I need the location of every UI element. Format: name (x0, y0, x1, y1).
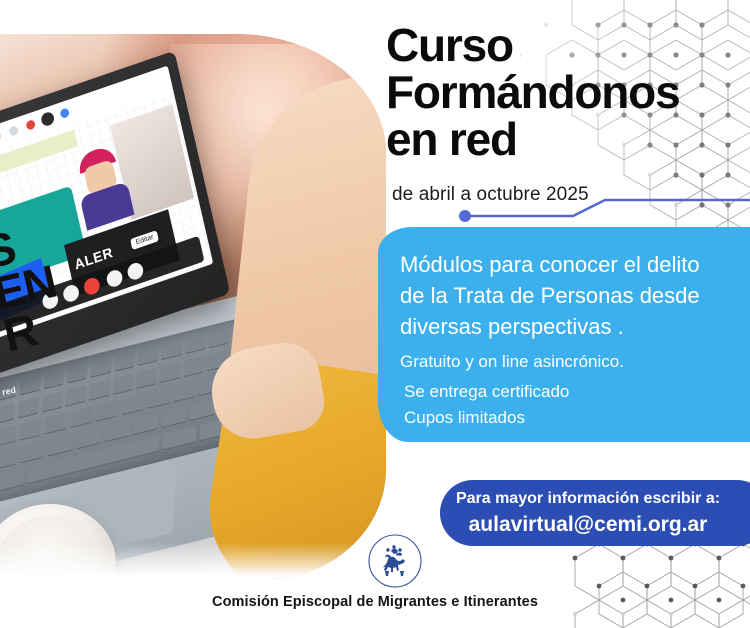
cta-email[interactable]: aulavirtual@cemi.org.ar (440, 513, 736, 537)
headline-line-2: Formándonos (386, 69, 746, 116)
toolbar-circle-icon (0, 131, 2, 143)
organization-logo-icon (367, 533, 423, 589)
description-line-3: diversas perspectivas . (400, 311, 735, 342)
description-line-1: Módulos para conocer el delito (400, 249, 735, 280)
toolbar-avatar-icon (40, 111, 55, 128)
camera-icon (62, 283, 81, 304)
contact-cta[interactable]: Para mayor información escribir a: aulav… (440, 480, 750, 546)
toolbar-profile-icon (59, 107, 70, 119)
more-options-icon (126, 261, 145, 282)
headline-line-1: Curso (386, 22, 746, 69)
photo-bottom-fade (0, 543, 386, 579)
hangup-icon (83, 276, 102, 297)
course-description: Módulos para conocer el delito de la Tra… (400, 249, 735, 343)
poster-headline: Curso Formándonos en red (386, 22, 746, 163)
headline-line-3: en red (386, 116, 746, 163)
note-limited-seats: Cupos limitados (404, 405, 569, 431)
cta-label: Para mayor información escribir a: (440, 490, 736, 508)
course-photo: ALER Editar S EN R red (0, 34, 386, 579)
toolbar-record-icon (25, 119, 36, 131)
description-line-2: de la Trata de Personas desde (400, 280, 735, 311)
hexagon-pattern-footer-decoration (565, 540, 750, 628)
organization-name: Comisión Episcopal de Migrantes e Itiner… (0, 594, 750, 610)
participants-icon (105, 268, 124, 289)
poster-canvas: ALER Editar S EN R red (0, 0, 750, 628)
note-free-online: Gratuito y on line asincrónico. (400, 352, 624, 372)
toolbar-share-icon (8, 125, 19, 137)
course-notes: Se entrega certificado Cupos limitados (404, 379, 569, 430)
note-certificate: Se entrega certificado (404, 379, 569, 405)
course-description-panel: Módulos para conocer el delito de la Tra… (378, 227, 750, 442)
